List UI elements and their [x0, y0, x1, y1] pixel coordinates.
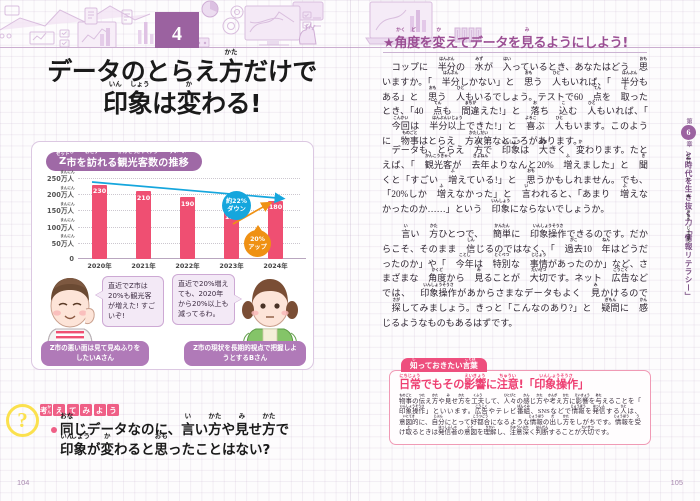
- know-box: 日常にちじょうでもその影響えいきょうに注意ちゅうい!「印象操作いんしょうそうさ」…: [389, 370, 651, 445]
- know-box-tab: 知しっておきたい言葉ことば: [401, 358, 487, 372]
- chapter-sho: 章: [684, 141, 693, 147]
- xtick-label: 2023年: [219, 261, 243, 270]
- annotation-bubble-decrease: 約22% ダウン: [222, 191, 251, 220]
- bullet-dot: [51, 427, 57, 433]
- page-number-right: 105: [671, 478, 683, 487]
- xtick-label: 2020年: [87, 261, 111, 270]
- chart-card: Zゼット市しを訪おとずれる観かん光こう客きゃく数すうの推すい移い 250万人まん…: [31, 141, 314, 370]
- chapter-marker: 第 6 章 AI時代じだいを生いき抜ぬく力ちから「情報じょうほうリテラシー」: [680, 118, 697, 300]
- xtick-label: 2024年: [263, 261, 287, 270]
- ytick-label: 200万人まんにん: [47, 189, 74, 199]
- body-paragraph-2: データも、とらえ方かたで印象いんしょうは大おおきく変かわります。たとえば、「観光…: [382, 143, 648, 217]
- character-boy: [40, 273, 100, 345]
- question-mark-icon: ?: [6, 404, 39, 437]
- headline-line2: 印いん象しょうは変かわる!: [22, 88, 342, 120]
- chart-plot-area: 250万人まんにん 200万人まんにん 150万人まんにん 100万人まんにん …: [78, 178, 300, 259]
- question-line2: 印いん象しょうが変かわると思おもったことはない?: [60, 440, 350, 460]
- speech-bubble-girl: 直近で20%増えても、2020年から20%以上も減ってるわ。: [172, 274, 235, 325]
- ytick-label: 250万人まんにん: [47, 173, 74, 183]
- annotation-bubble-increase: 20% アップ: [244, 230, 271, 257]
- page-number-left: 104: [17, 478, 29, 487]
- character-label-boy: Z市の悪い面は見て見ぬふりをしたいAさん: [41, 341, 149, 366]
- section-heading: ★角かく度どを変かえてデータを見みるようにしよう!: [383, 32, 648, 51]
- chapter-title-vertical: AI時代じだいを生いき抜ぬく力ちから「情報じょうほうリテラシー」: [683, 151, 694, 300]
- ytick-label: 150万人まんにん: [47, 205, 74, 215]
- character-label-girl: Z市の現状を長期的視点で把握しようとするBさん: [184, 341, 306, 366]
- ytick-label: 50万人まんにん: [52, 238, 74, 248]
- textbook-spread: 4 データのとらえ方かただけで 印いん象しょうは変かわる! Zゼット市しを訪おと…: [0, 0, 700, 501]
- ytick-label: 0: [69, 255, 74, 263]
- xtick-label: 2021年: [131, 261, 155, 270]
- know-box-body: 物事ものごとの伝つたえ方かたや見みせ方かたを工夫くふうして、人々ひとびとの感かん…: [399, 397, 641, 439]
- ytick-label: 100万人まんにん: [47, 222, 74, 232]
- body-paragraph-1: コップに半分はんぶんの水みずが入はいっているとき、あなたはどう思おもいますか。「…: [382, 60, 648, 149]
- page-title: データのとらえ方かただけで 印いん象しょうは変かわる!: [22, 56, 342, 120]
- know-box-heading: 日常にちじょうでもその影響えいきょうに注意ちゅうい!「印象操作いんしょうそうさ」: [399, 378, 641, 393]
- question-text: 同おなじデータなのに、言いい方かたや見みせ方かたで 印いん象しょうが変かわると思…: [60, 420, 350, 461]
- chart-title-badge: Zゼット市しを訪おとずれる観かん光こう客きゃく数すうの推すい移い: [46, 152, 202, 171]
- character-girl: [239, 273, 301, 345]
- chapter-dai: 第: [684, 118, 693, 124]
- page-gutter: [350, 0, 351, 501]
- xtick-label: 2022年: [175, 261, 199, 270]
- headline-line1: データのとらえ方かただけで: [47, 57, 317, 86]
- badge-char: よ: [94, 404, 106, 416]
- section-number-badge: 4: [155, 12, 199, 48]
- chapter-number: 6: [681, 125, 696, 140]
- badge-char: み: [80, 404, 92, 416]
- speech-bubble-boy: 直近でZ市は20%も観光客が増えた! すごいぞ!: [102, 276, 164, 327]
- body-paragraph-3: 言いい方かたひとつで、簡単かんたんに印象操作いんしょうそうさできるのです。だから…: [382, 227, 648, 331]
- heading-rule: [383, 52, 647, 53]
- badge-char: 考かん: [40, 404, 52, 416]
- badge-char: う: [107, 404, 119, 416]
- think-about-it-badge: 考かん え て み よ う: [40, 404, 119, 416]
